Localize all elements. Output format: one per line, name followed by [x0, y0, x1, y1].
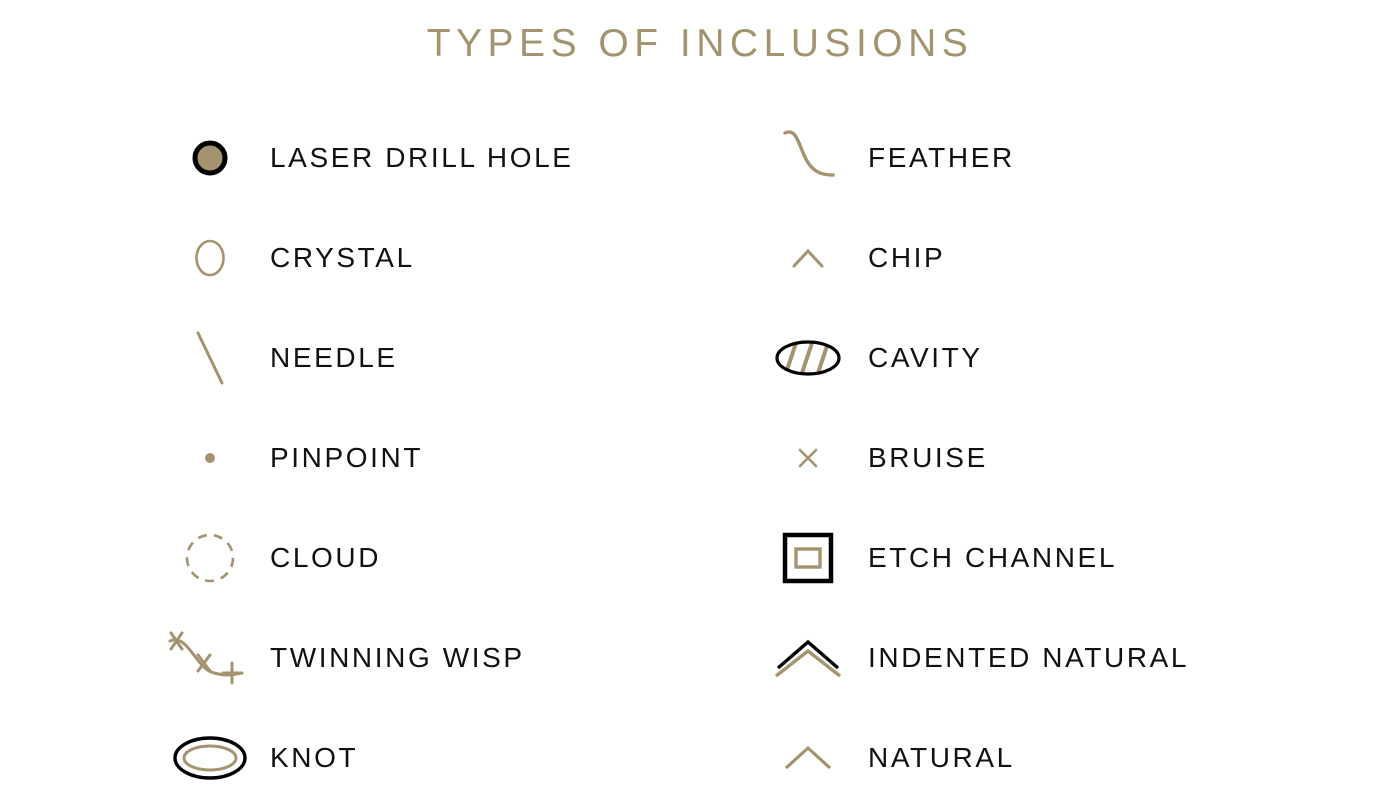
cavity-icon [748, 308, 868, 408]
needle-icon [150, 308, 270, 408]
inclusion-legend-page: TYPES OF INCLUSIONS LASER DRILL HOLE CRY [0, 0, 1400, 788]
legend-label: NATURAL [868, 744, 1015, 772]
legend-column-right: FEATHER CHIP [748, 108, 1348, 808]
natural-icon [748, 708, 868, 808]
legend-column-left: LASER DRILL HOLE CRYSTAL NEEDLE [150, 108, 750, 808]
list-item: FEATHER [748, 108, 1348, 208]
indented-natural-icon [748, 608, 868, 708]
list-item: PINPOINT [150, 408, 750, 508]
etch-channel-icon [748, 508, 868, 608]
list-item: KNOT [150, 708, 750, 808]
legend-label: KNOT [270, 744, 358, 772]
chip-icon [748, 208, 868, 308]
legend-label: LASER DRILL HOLE [270, 144, 574, 172]
feather-icon [748, 108, 868, 208]
list-item: LASER DRILL HOLE [150, 108, 750, 208]
legend-label: CRYSTAL [270, 244, 415, 272]
legend-label: CHIP [868, 244, 945, 272]
laser-drill-hole-icon [150, 108, 270, 208]
legend-label: NEEDLE [270, 344, 398, 372]
legend-label: INDENTED NATURAL [868, 644, 1189, 672]
list-item: CAVITY [748, 308, 1348, 408]
list-item: ETCH CHANNEL [748, 508, 1348, 608]
legend-label: ETCH CHANNEL [868, 544, 1117, 572]
list-item: CLOUD [150, 508, 750, 608]
twinning-wisp-icon [150, 608, 270, 708]
list-item: CHIP [748, 208, 1348, 308]
knot-icon [150, 708, 270, 808]
list-item: CRYSTAL [150, 208, 750, 308]
legend-label: PINPOINT [270, 444, 423, 472]
legend-label: TWINNING WISP [270, 644, 525, 672]
legend-label: FEATHER [868, 144, 1015, 172]
legend-grid: LASER DRILL HOLE CRYSTAL NEEDLE [0, 108, 1400, 788]
bruise-icon [748, 408, 868, 508]
legend-label: CAVITY [868, 344, 983, 372]
page-title: TYPES OF INCLUSIONS [0, 22, 1400, 66]
crystal-icon [150, 208, 270, 308]
list-item: TWINNING WISP [150, 608, 750, 708]
cloud-icon [150, 508, 270, 608]
legend-label: CLOUD [270, 544, 381, 572]
pinpoint-icon [150, 408, 270, 508]
list-item: NEEDLE [150, 308, 750, 408]
legend-label: BRUISE [868, 444, 988, 472]
list-item: BRUISE [748, 408, 1348, 508]
list-item: NATURAL [748, 708, 1348, 808]
list-item: INDENTED NATURAL [748, 608, 1348, 708]
